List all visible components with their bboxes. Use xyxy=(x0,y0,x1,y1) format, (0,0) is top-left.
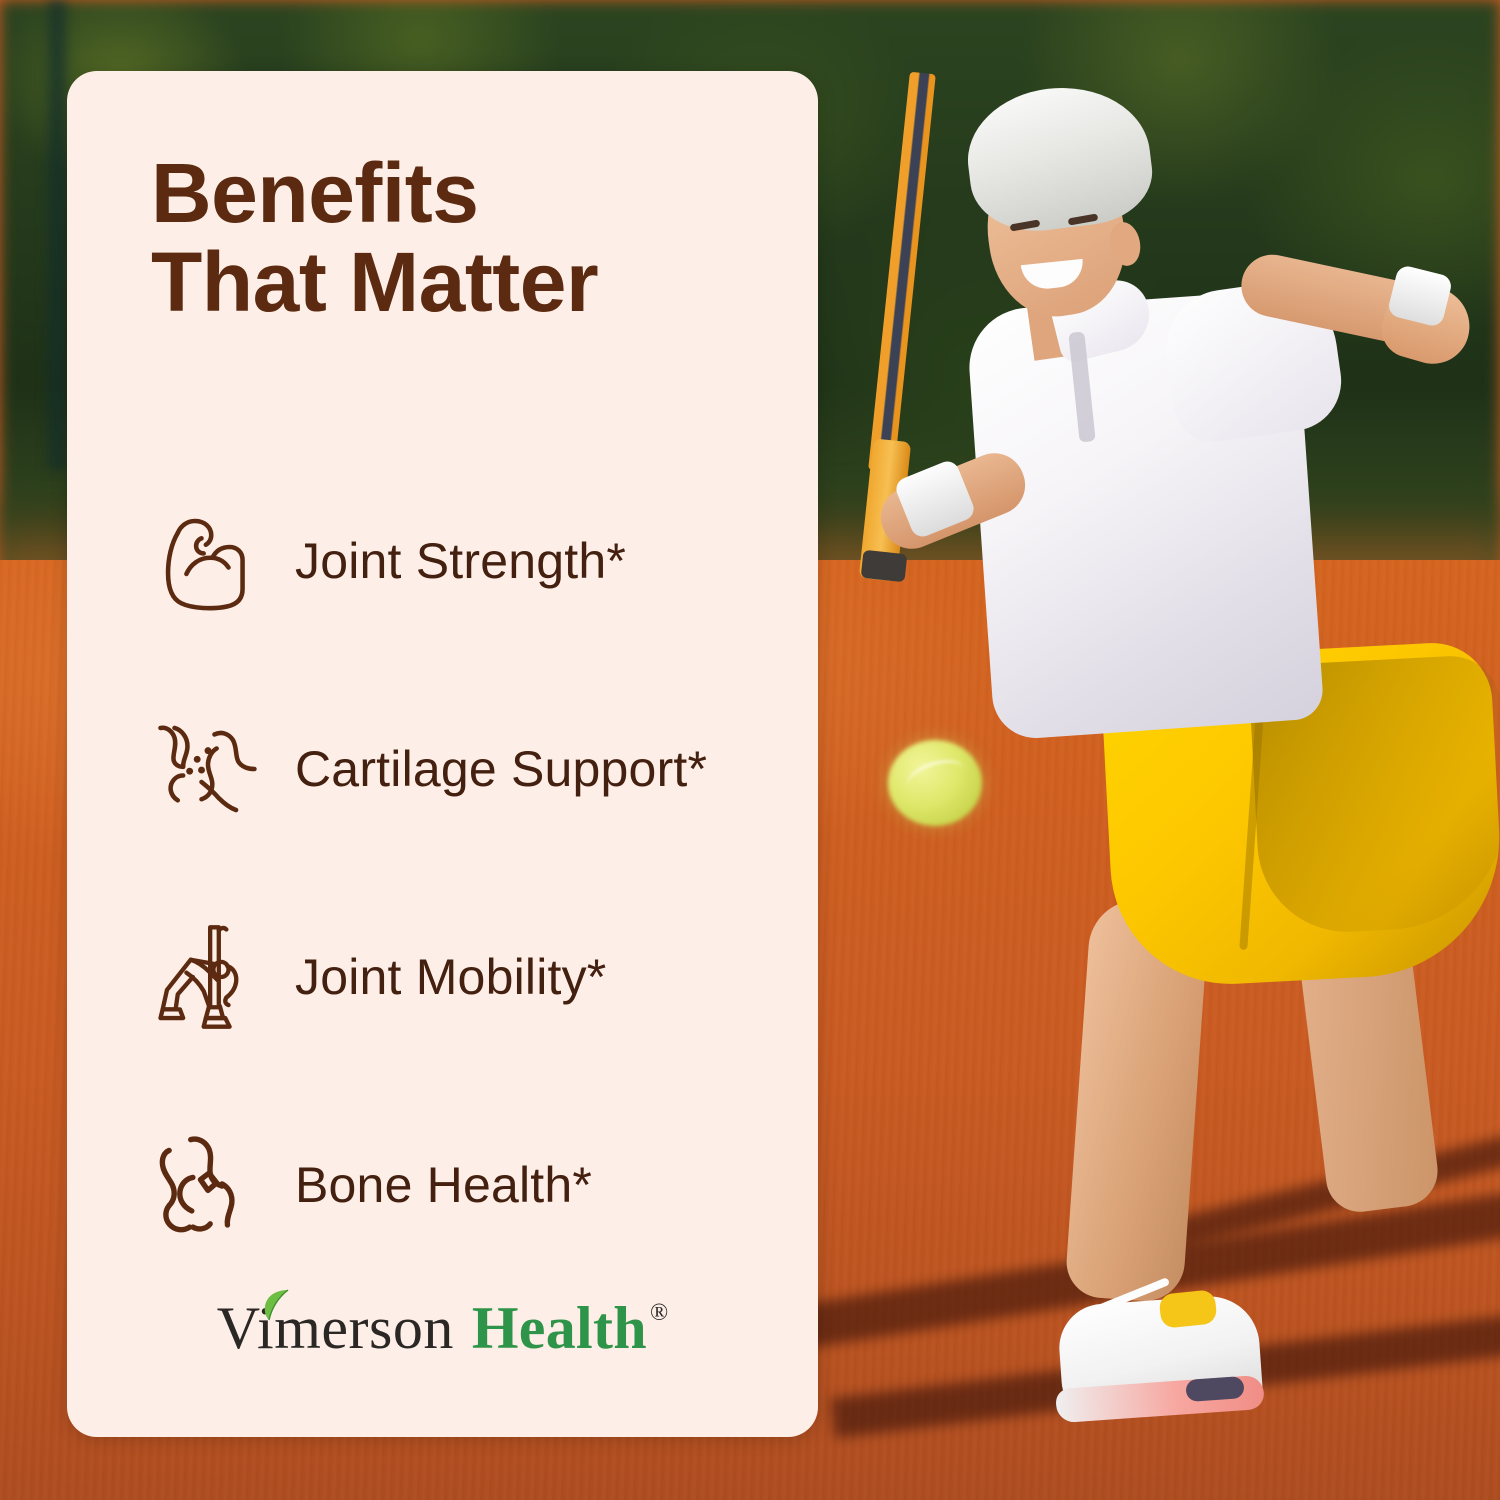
page-title: Benefits That Matter xyxy=(151,149,818,327)
benefit-label: Cartilage Support* xyxy=(295,744,707,794)
stretching-figure-icon xyxy=(153,922,263,1032)
benefits-card: Benefits That Matter Joint Strength* xyxy=(67,71,818,1437)
product-lifestyle-image: Benefits That Matter Joint Strength* xyxy=(0,0,1500,1500)
benefit-item-joint-strength: Joint Strength* xyxy=(67,457,818,665)
benefit-label: Joint Strength* xyxy=(295,536,626,586)
sneaker-air-unit xyxy=(1185,1376,1244,1402)
registered-trademark: ® xyxy=(650,1301,668,1325)
benefit-item-bone-health: Bone Health* xyxy=(67,1081,818,1289)
benefit-label: Joint Mobility* xyxy=(295,952,606,1002)
benefits-list: Joint Strength* xyxy=(67,457,818,1289)
benefit-item-joint-mobility: Joint Mobility* xyxy=(67,873,818,1081)
bone-joint-icon xyxy=(153,1130,263,1240)
brand-logo: Vimerson Health ® xyxy=(67,1294,818,1363)
flexed-bicep-icon xyxy=(153,506,263,616)
tennis-racket-butt xyxy=(861,550,908,582)
benefit-item-cartilage-support: Cartilage Support* xyxy=(67,665,818,873)
sneaker-tongue xyxy=(1158,1289,1217,1329)
benefit-label: Bone Health* xyxy=(295,1160,592,1210)
brand-name-secondary: Health xyxy=(472,1294,647,1363)
knee-cartilage-icon xyxy=(153,714,263,824)
leaf-icon xyxy=(261,1288,291,1322)
brand-name-primary: Vimerson xyxy=(217,1294,454,1363)
